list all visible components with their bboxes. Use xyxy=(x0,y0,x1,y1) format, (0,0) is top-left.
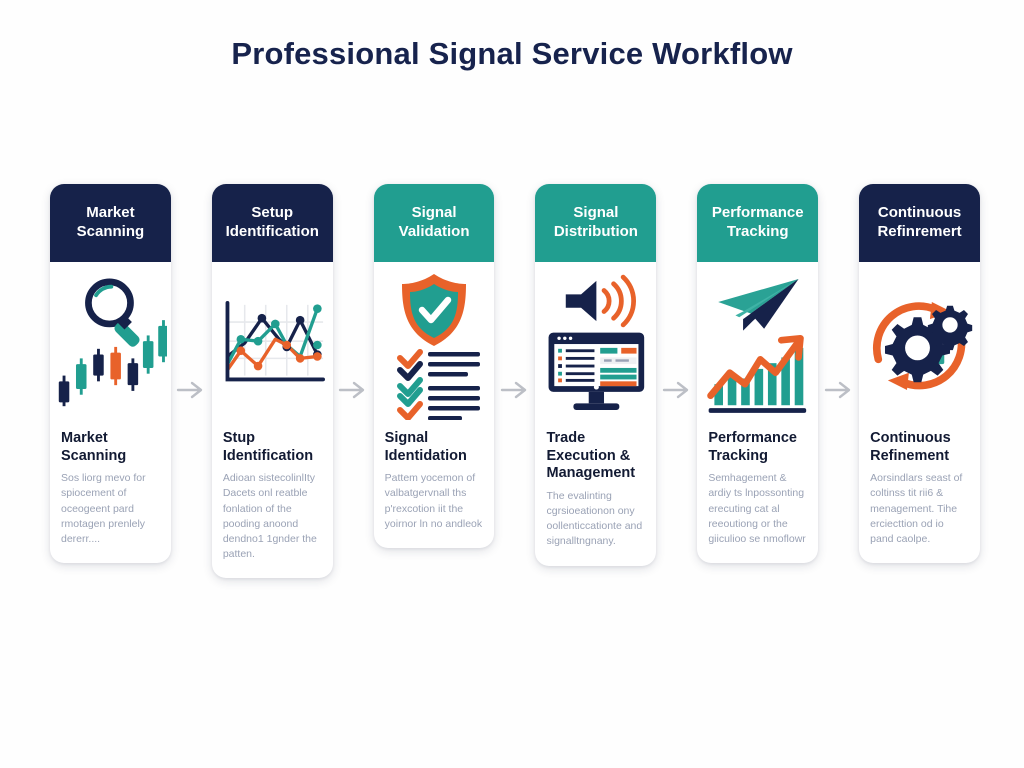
workflow-infographic: Professional Signal Service Workflow Mar… xyxy=(0,0,1024,768)
card-text-1: Sos liorg mevo for spiocement of oceogee… xyxy=(61,471,160,547)
magnifier-candlestick-chart-icon xyxy=(50,262,171,422)
card-header-6: Continuous Refinremert xyxy=(859,184,980,262)
workflow-card-market-scanning[interactable]: Market Scanning xyxy=(50,184,171,563)
chevron-right-arrow-icon xyxy=(494,184,535,596)
workflow-card-signal-distribution[interactable]: Signal Distribution xyxy=(535,184,656,566)
card-subtitle-3: Signal Identidation xyxy=(385,430,484,465)
card-subtitle-4: Trade Execution & Management xyxy=(546,430,645,483)
card-body-1: Market Scanning Sos liorg mevo for spioc… xyxy=(50,422,171,563)
workflow-card-performance-tracking[interactable]: Performance Tracking xyxy=(697,184,818,563)
workflow-card-signal-validation[interactable]: Signal Validation xyxy=(374,184,495,548)
megaphone-monitor-icon xyxy=(535,262,656,422)
shield-checkmark-checklist-icon xyxy=(374,262,495,422)
card-subtitle-2: Stup Identification xyxy=(223,430,322,465)
card-header-2: Setup Identification xyxy=(212,184,333,262)
card-text-4: The evalinting cgrsioeationon ony oollen… xyxy=(546,489,645,549)
card-text-5: Semhagement & ardiy ts lnpossonting erec… xyxy=(708,471,807,547)
chevron-right-arrow-icon xyxy=(333,184,374,596)
card-header-5: Performance Tracking xyxy=(697,184,818,262)
card-body-4: Trade Execution & Management The evalint… xyxy=(535,422,656,566)
chevron-right-arrow-icon xyxy=(171,184,212,596)
chevron-right-arrow-icon xyxy=(818,184,859,596)
workflow-card-continuous-refinement[interactable]: Continuous Refinremert xyxy=(859,184,980,563)
card-body-5: Performance Tracking Semhagement & ardiy… xyxy=(697,422,818,563)
card-subtitle-1: Market Scanning xyxy=(61,430,160,465)
card-body-2: Stup Identification Adioan sistecolinlIt… xyxy=(212,422,333,578)
card-subtitle-5: Performance Tracking xyxy=(708,430,807,465)
workflow-steps-row: Market Scanning xyxy=(50,184,980,596)
chevron-right-arrow-icon xyxy=(656,184,697,596)
card-body-3: Signal Identidation Pattem yocemon of va… xyxy=(374,422,495,548)
card-header-4: Signal Distribution xyxy=(535,184,656,262)
card-header-3: Signal Validation xyxy=(374,184,495,262)
card-text-3: Pattem yocemon of valbatgervnall ths p'r… xyxy=(385,471,484,531)
card-subtitle-6: Continuous Refinement xyxy=(870,430,969,465)
card-text-2: Adioan sistecolinlIty Dacets onl reatble… xyxy=(223,471,322,562)
paper-plane-bar-chart-growth-icon xyxy=(697,262,818,422)
workflow-card-setup-identification[interactable]: Setup Identification xyxy=(212,184,333,578)
multi-line-chart-icon xyxy=(212,262,333,422)
card-body-6: Continuous Refinement Aorsindlars seast … xyxy=(859,422,980,563)
gears-circular-arrows-icon xyxy=(859,262,980,422)
card-text-6: Aorsindlars seast of coltinss tit rii6 &… xyxy=(870,471,969,547)
card-header-1: Market Scanning xyxy=(50,184,171,262)
page-title: Professional Signal Service Workflow xyxy=(0,36,1024,72)
